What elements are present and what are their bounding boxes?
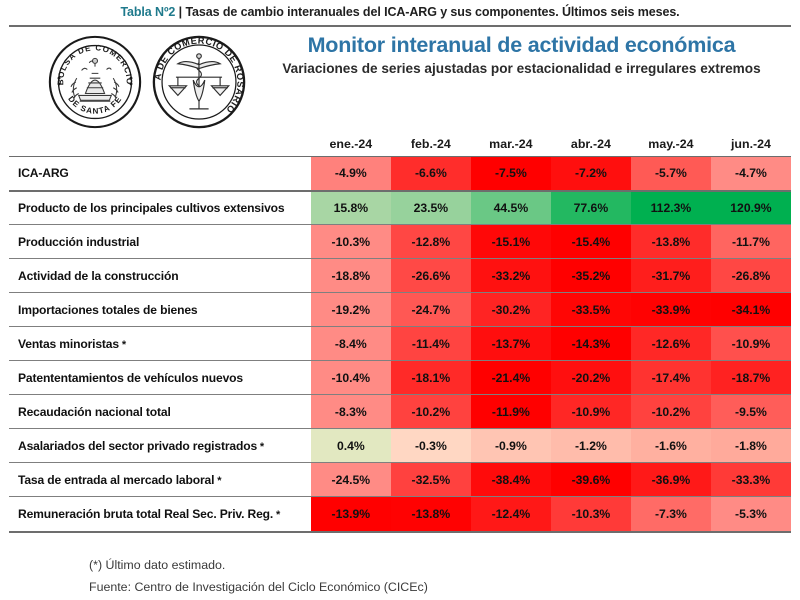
monitor-table-page: Tabla Nº2 | Tasas de cambio interanuales… [0,0,800,600]
data-cell: -18.1% [391,361,471,395]
row-label: Recaudación nacional total [9,395,311,429]
data-cell: -8.3% [311,395,391,429]
data-cell: -11.9% [471,395,551,429]
column-header-month: mar.-24 [471,137,551,157]
table-row: Patententamientos de vehículos nuevos-10… [9,361,791,395]
table-row: Tasa de entrada al mercado laboral *-24.… [9,463,791,497]
caption-text: Tasas de cambio interanuales del ICA-ARG… [185,5,679,19]
data-cell: -24.5% [311,463,391,497]
data-cell: 44.5% [471,191,551,225]
table-row: Asalariados del sector privado registrad… [9,429,791,463]
estimate-asterisk: * [273,509,280,521]
data-cell: -39.6% [551,463,631,497]
table-row: ICA-ARG-4.9%-6.6%-7.5%-7.2%-5.7%-4.7% [9,157,791,191]
data-cell: -18.7% [711,361,791,395]
column-header-month: ene.-24 [311,137,391,157]
data-cell: -13.8% [391,497,471,531]
table-row: Producto de los principales cultivos ext… [9,191,791,225]
data-cell: -35.2% [551,259,631,293]
month-header-row: ene.-24 feb.-24 mar.-24 abr.-24 may.-24 … [9,137,791,157]
data-cell: -38.4% [471,463,551,497]
data-cell: 77.6% [551,191,631,225]
data-cell: -36.9% [631,463,711,497]
data-cell: -33.3% [711,463,791,497]
logo-group: BOLSA DE COMERCIO DE SANTA FE [9,27,252,137]
data-cell: -31.7% [631,259,711,293]
data-cell: -9.5% [711,395,791,429]
data-cell: -33.9% [631,293,711,327]
footnote-source: Fuente: Centro de Investigación del Cicl… [89,576,791,599]
row-label: Importaciones totales de bienes [9,293,311,327]
row-label: Asalariados del sector privado registrad… [9,429,311,463]
data-cell: -19.2% [311,293,391,327]
data-cell: -1.6% [631,429,711,463]
table-footer: (*) Último dato estimado. Fuente: Centro… [9,533,791,600]
data-cell: -12.4% [471,497,551,531]
data-cell: -10.3% [551,497,631,531]
table-caption: Tabla Nº2 | Tasas de cambio interanuales… [0,0,800,25]
table-row: Recaudación nacional total-8.3%-10.2%-11… [9,395,791,429]
data-cell: -10.9% [711,327,791,361]
table-row: Importaciones totales de bienes-19.2%-24… [9,293,791,327]
data-cell: -10.4% [311,361,391,395]
indicator-column-header [9,137,311,157]
data-cell: -24.7% [391,293,471,327]
estimate-asterisk: * [257,441,264,453]
brand-bar: BOLSA DE COMERCIO DE SANTA FE [9,27,791,137]
estimate-asterisk: * [214,475,221,487]
data-cell: -4.9% [311,157,391,191]
data-cell: -18.8% [311,259,391,293]
data-cell: -5.3% [711,497,791,531]
data-cell: -13.8% [631,225,711,259]
column-header-month: may.-24 [631,137,711,157]
row-label: Ventas minoristas * [9,327,311,361]
table-frame: BOLSA DE COMERCIO DE SANTA FE [9,25,791,533]
data-cell: -4.7% [711,157,791,191]
brand-header-cell: BOLSA DE COMERCIO DE SANTA FE [9,27,791,137]
data-cell: -8.4% [311,327,391,361]
data-cell: 120.9% [711,191,791,225]
data-cell: -10.9% [551,395,631,429]
data-cell: -7.3% [631,497,711,531]
data-cell: -11.7% [711,225,791,259]
data-cell: -10.2% [631,395,711,429]
data-cell: 112.3% [631,191,711,225]
title-block: Monitor interanual de actividad económic… [252,27,791,137]
monitor-table: BOLSA DE COMERCIO DE SANTA FE [9,27,791,531]
data-cell: -13.9% [311,497,391,531]
table-row: Ventas minoristas *-8.4%-11.4%-13.7%-14.… [9,327,791,361]
data-cell: -30.2% [471,293,551,327]
data-cell: -7.2% [551,157,631,191]
estimate-asterisk: * [119,339,126,351]
column-header-month: abr.-24 [551,137,631,157]
data-cell: -12.6% [631,327,711,361]
row-label: Producto de los principales cultivos ext… [9,191,311,225]
data-cell: -17.4% [631,361,711,395]
table-head: BOLSA DE COMERCIO DE SANTA FE [9,27,791,157]
table-body: ICA-ARG-4.9%-6.6%-7.5%-7.2%-5.7%-4.7%Pro… [9,157,791,531]
column-header-month: jun.-24 [711,137,791,157]
data-cell: -15.4% [551,225,631,259]
row-label: ICA-ARG [9,157,311,191]
table-row: Actividad de la construcción-18.8%-26.6%… [9,259,791,293]
row-label: Tasa de entrada al mercado laboral * [9,463,311,497]
data-cell: 15.8% [311,191,391,225]
data-cell: -20.2% [551,361,631,395]
data-cell: -26.6% [391,259,471,293]
caption-separator: | [179,5,182,19]
data-cell: -0.9% [471,429,551,463]
data-cell: -11.4% [391,327,471,361]
data-cell: -1.2% [551,429,631,463]
table-row: Remuneración bruta total Real Sec. Priv.… [9,497,791,531]
data-cell: -13.7% [471,327,551,361]
data-cell: -33.5% [551,293,631,327]
bolsa-de-comercio-de-rosario-logo-icon: BOLSA DE COMERCIO DE ROSARIO [151,34,247,130]
row-label: Remuneración bruta total Real Sec. Priv.… [9,497,311,531]
column-header-month: feb.-24 [391,137,471,157]
page-title: Monitor interanual de actividad económic… [258,33,785,57]
data-cell: -7.5% [471,157,551,191]
bolsa-de-comercio-de-santa-fe-logo-icon: BOLSA DE COMERCIO DE SANTA FE [47,34,143,130]
data-cell: -26.8% [711,259,791,293]
caption-table-number: Tabla Nº2 [120,5,175,19]
footnote-estimate: (*) Último dato estimado. [89,554,791,577]
row-label: Patententamientos de vehículos nuevos [9,361,311,395]
data-cell: -10.3% [311,225,391,259]
data-cell: -15.1% [471,225,551,259]
data-cell: -6.6% [391,157,471,191]
table-row: Producción industrial-10.3%-12.8%-15.1%-… [9,225,791,259]
data-cell: -12.8% [391,225,471,259]
data-cell: -33.2% [471,259,551,293]
data-cell: -1.8% [711,429,791,463]
page-subtitle: Variaciones de series ajustadas por esta… [258,61,785,78]
data-cell: -32.5% [391,463,471,497]
data-cell: -10.2% [391,395,471,429]
row-label: Producción industrial [9,225,311,259]
data-cell: -0.3% [391,429,471,463]
data-cell: -21.4% [471,361,551,395]
data-cell: 0.4% [311,429,391,463]
data-cell: 23.5% [391,191,471,225]
row-label: Actividad de la construcción [9,259,311,293]
data-cell: -14.3% [551,327,631,361]
data-cell: -5.7% [631,157,711,191]
data-cell: -34.1% [711,293,791,327]
